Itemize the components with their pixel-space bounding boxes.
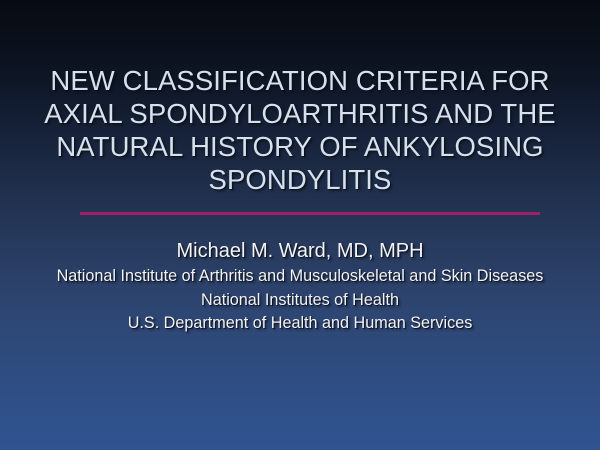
title-slide: NEW CLASSIFICATION CRITERIA FOR AXIAL SP… <box>0 0 600 450</box>
affiliation-line-3: U.S. Department of Health and Human Serv… <box>20 312 580 336</box>
slide-title: NEW CLASSIFICATION CRITERIA FOR AXIAL SP… <box>20 64 580 196</box>
affiliation-line-2: National Institutes of Health <box>20 289 580 313</box>
affiliation-line-1: National Institute of Arthritis and Musc… <box>20 265 580 289</box>
title-line-1: NEW CLASSIFICATION CRITERIA FOR <box>20 64 580 97</box>
presenter-name: Michael M. Ward, MD, MPH <box>20 238 580 265</box>
title-line-3: NATURAL HISTORY OF ANKYLOSING <box>20 130 580 163</box>
title-line-4: SPONDYLITIS <box>20 163 580 196</box>
title-divider-rule <box>80 212 540 215</box>
title-line-2: AXIAL SPONDYLOARTHRITIS AND THE <box>20 97 580 130</box>
slide-subtitle: Michael M. Ward, MD, MPH National Instit… <box>20 238 580 336</box>
